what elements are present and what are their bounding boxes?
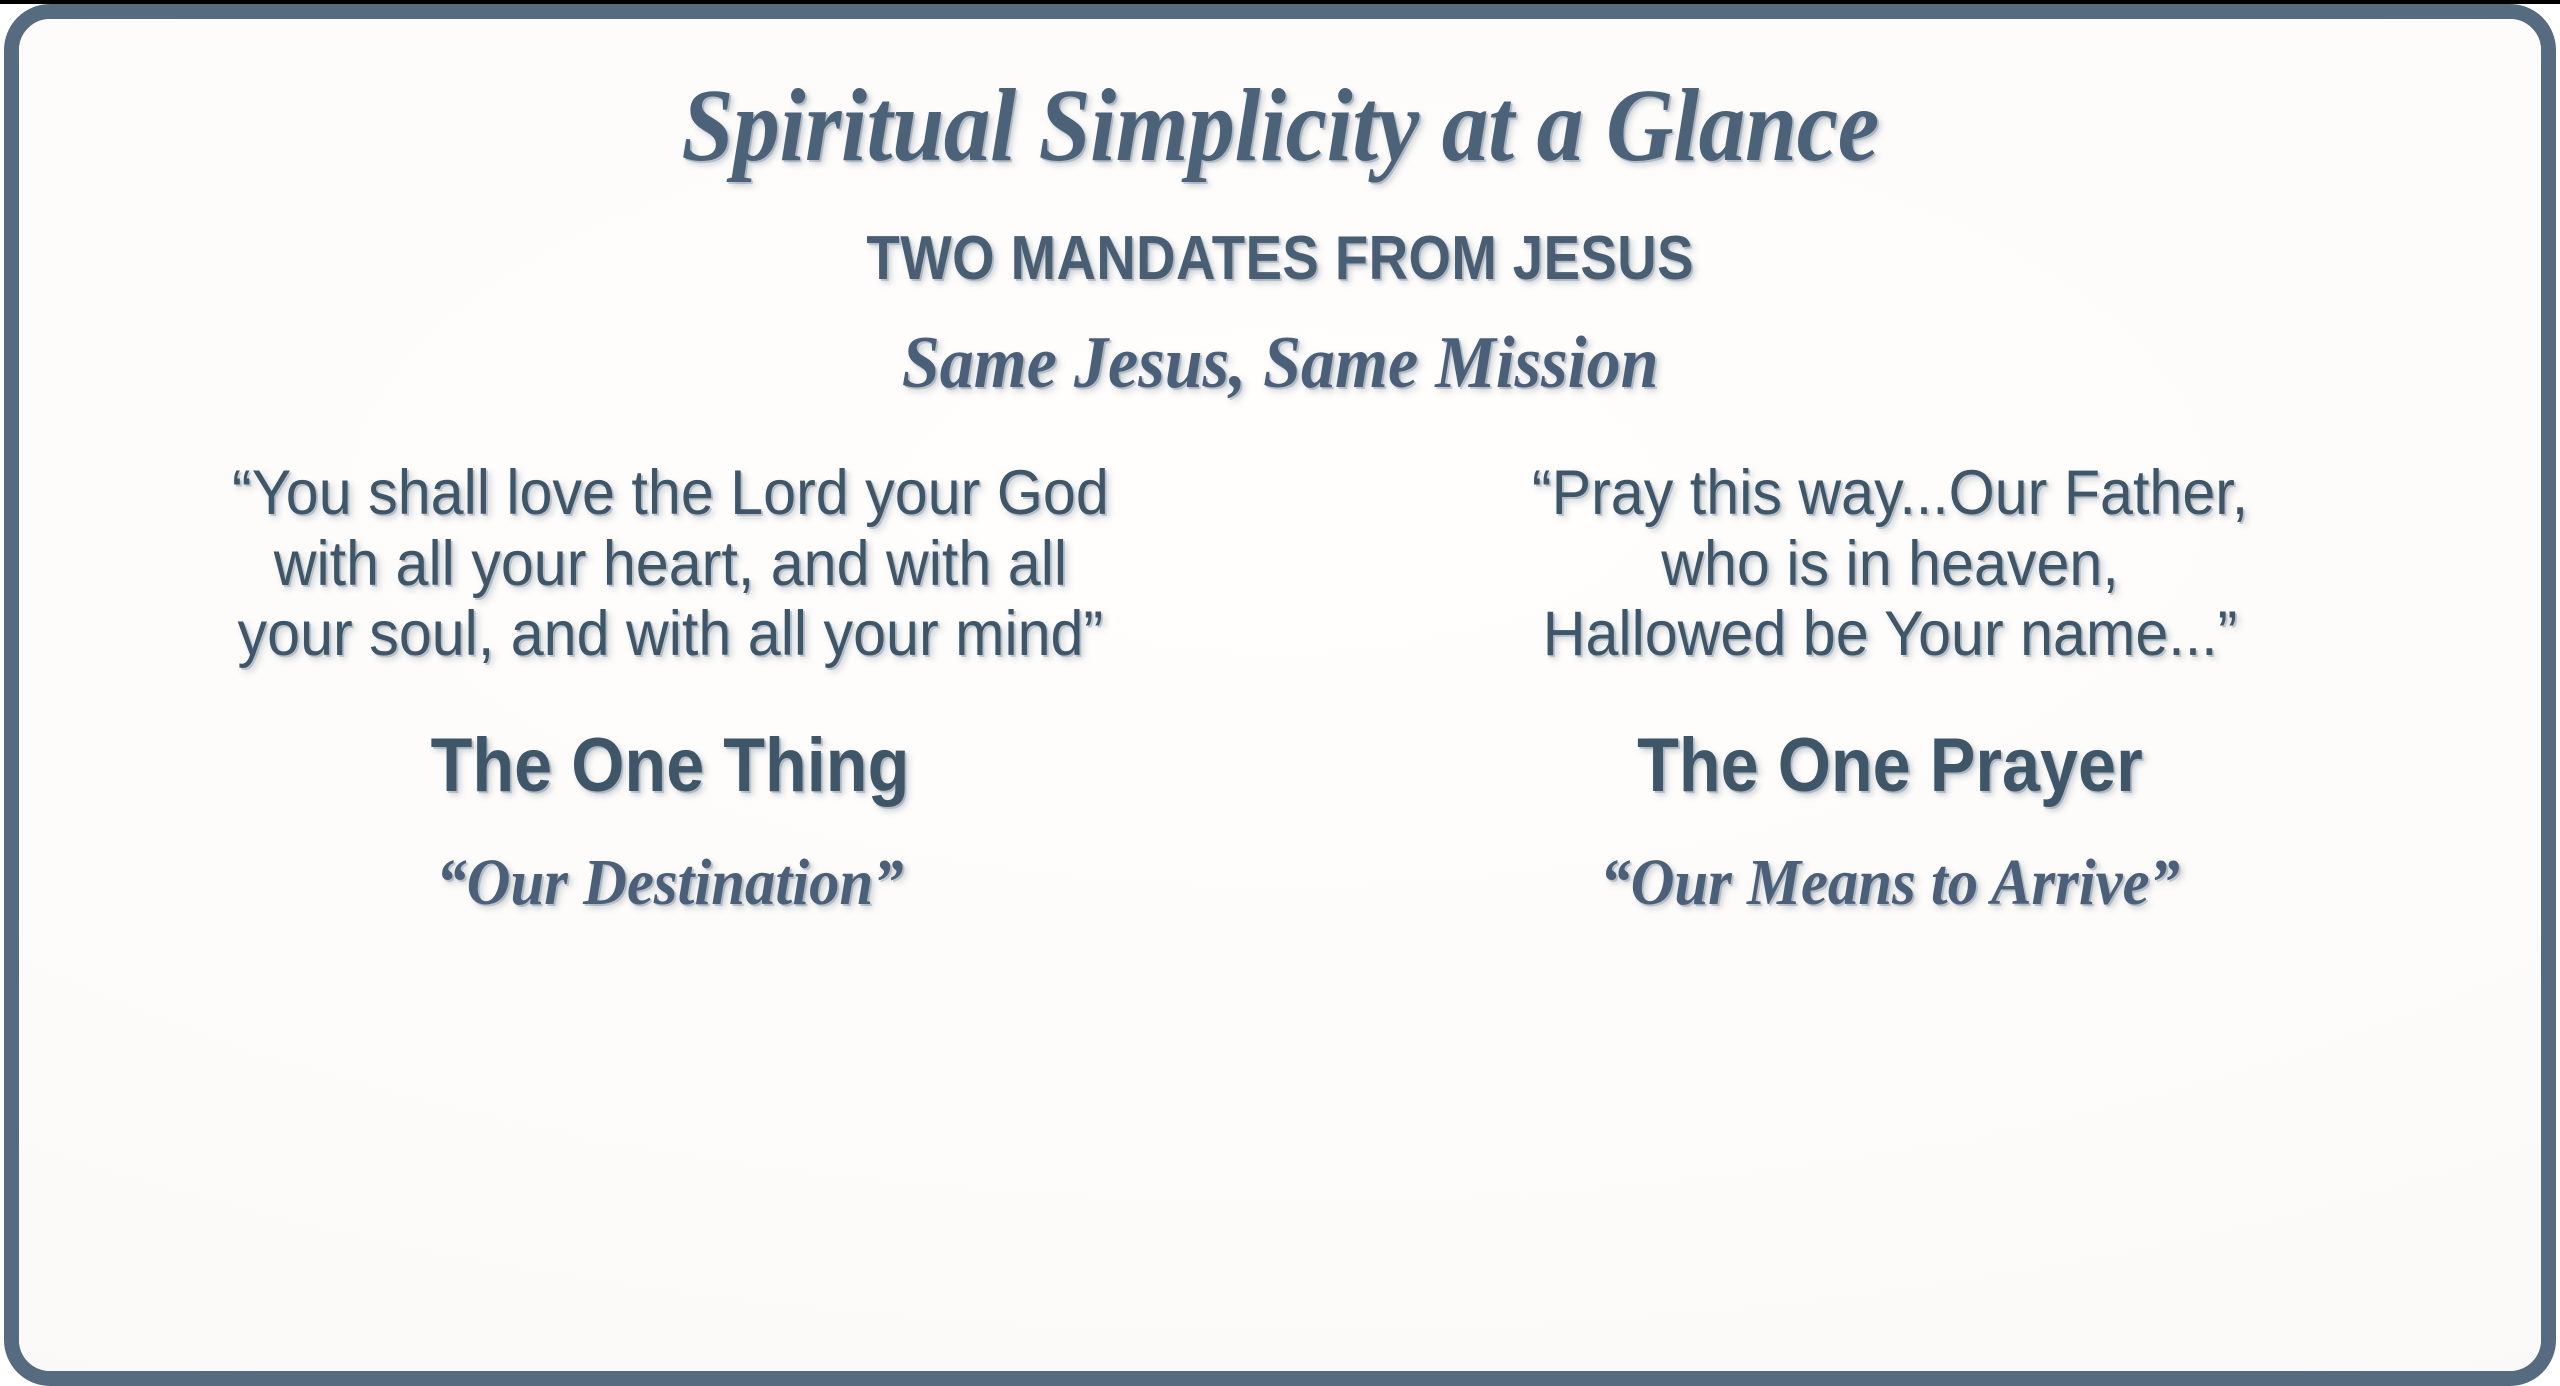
scripture-quote: “You shall love the Lord your God with a… bbox=[232, 458, 1109, 670]
column-one-prayer: “Pray this way...Our Father, who is in h… bbox=[1280, 458, 2510, 916]
slide-stage: Spiritual Simplicity at a Glance TWO MAN… bbox=[0, 0, 2560, 1386]
column-subtitle: “Our Means to Arrive” bbox=[1600, 850, 2180, 916]
column-subtitle: “Our Destination” bbox=[436, 850, 903, 916]
column-heading: The One Thing bbox=[431, 728, 910, 804]
slide-card-frame: Spiritual Simplicity at a Glance TWO MAN… bbox=[4, 4, 2556, 1386]
slide-tagline: Same Jesus, Same Mission bbox=[902, 326, 1659, 400]
slide-content: Spiritual Simplicity at a Glance TWO MAN… bbox=[19, 19, 2541, 1371]
scripture-quote: “Pray this way...Our Father, who is in h… bbox=[1532, 458, 2248, 670]
two-column-layout: “You shall love the Lord your God with a… bbox=[19, 458, 2541, 916]
column-one-thing: “You shall love the Lord your God with a… bbox=[50, 458, 1280, 916]
column-heading: The One Prayer bbox=[1637, 728, 2143, 804]
page-title: Spiritual Simplicity at a Glance bbox=[681, 71, 1878, 180]
slide-kicker: TWO MANDATES FROM JESUS bbox=[866, 228, 1694, 290]
